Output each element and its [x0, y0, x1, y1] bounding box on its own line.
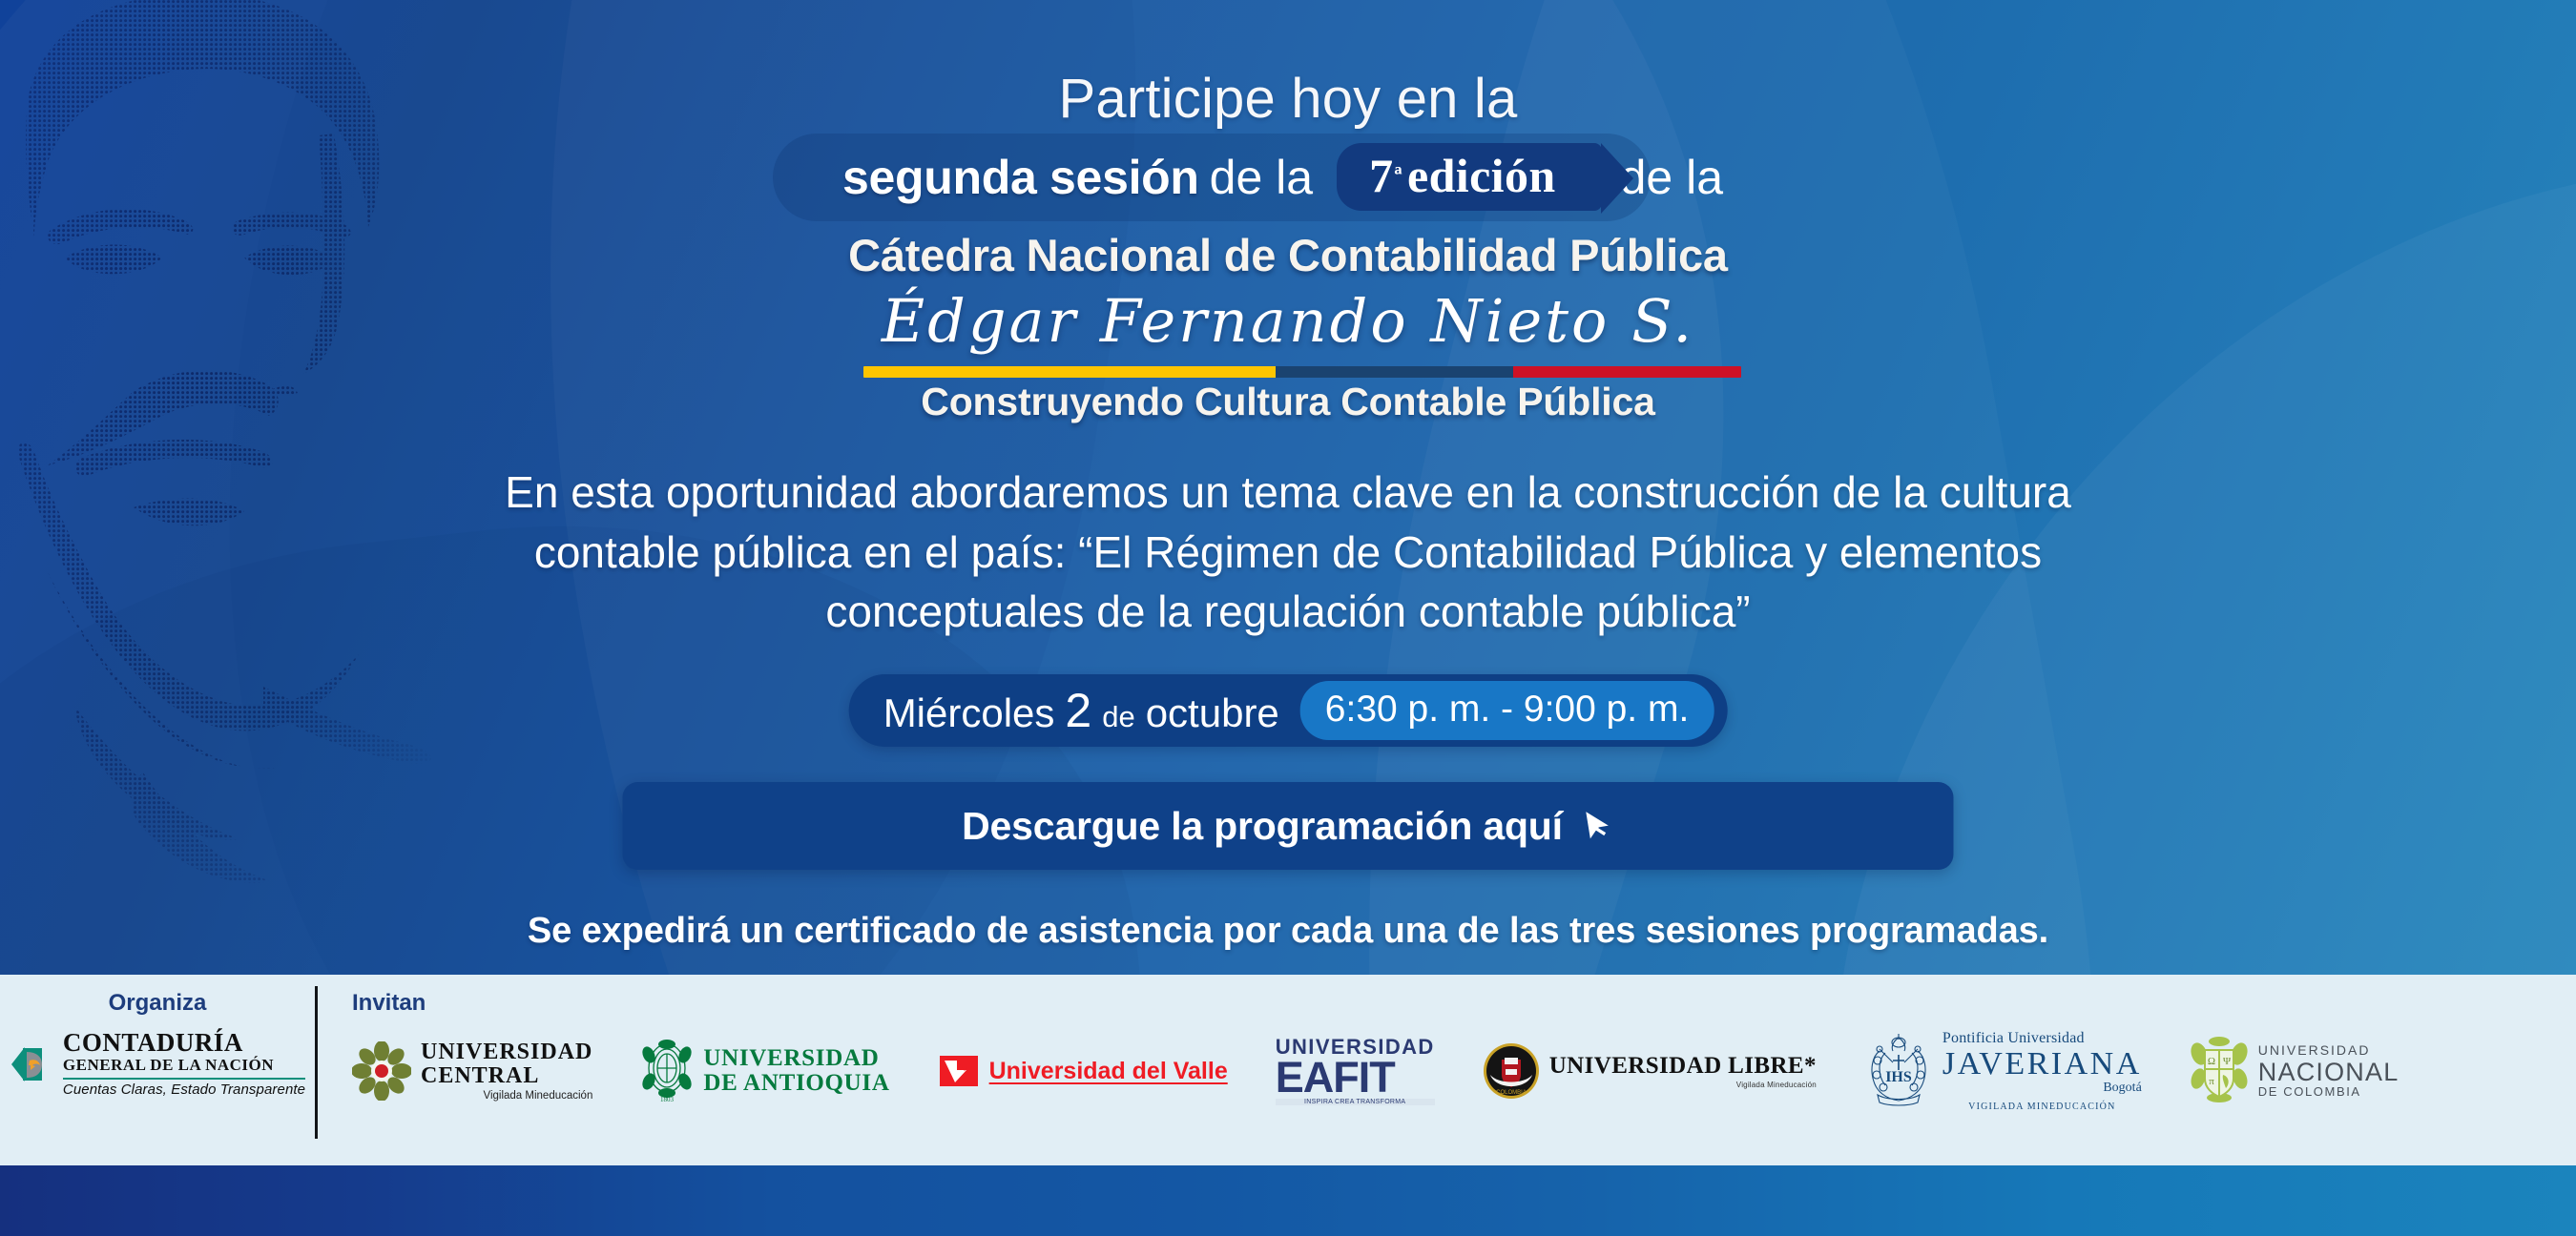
antioquia-year: 1803: [660, 1096, 675, 1102]
jv-note: VIGILADA MINEDUCACIÓN: [1942, 1102, 2142, 1112]
uc-line1: UNIVERSIDAD: [421, 1040, 592, 1063]
logo-contaduria-general[interactable]: CONTADURÍA GENERAL DE LA NACIÓN Cuentas …: [0, 1030, 315, 1098]
hero-background: Participe hoy en la segunda sesión de la…: [0, 0, 2576, 975]
page-title: Cátedra Nacional de Contabilidad Pública: [0, 229, 2576, 281]
flag-blue-segment: [1276, 366, 1512, 378]
poster-root: Participe hoy en la segunda sesión de la…: [0, 0, 2576, 1236]
unal-crest-icon: Ω Ψ π: [2190, 1037, 2249, 1105]
universidad-central-flower-icon: [352, 1041, 411, 1101]
logo-pontificia-universidad-javeriana[interactable]: IHS Pontificia Universidad JAVERIANA Bog…: [1864, 1030, 2142, 1112]
logo-universidad-de-antioquia[interactable]: 1803 UNIVERSIDAD DE ANTIOQUIA: [640, 1040, 889, 1102]
contaduria-name-line2: GENERAL DE LA NACIÓN: [63, 1056, 305, 1075]
jv-line1: Pontificia Universidad: [1942, 1030, 2142, 1047]
invited-logos-row: UNIVERSIDAD CENTRAL Vigilada Mineducació…: [344, 1030, 2576, 1112]
session-bold-text: segunda sesión: [842, 154, 1199, 201]
edition-badge: 7ªedición: [1337, 143, 1602, 211]
date-time-pill: Miércoles 2 de octubre 6:30 p. m. - 9:00…: [849, 674, 1728, 747]
time-range-badge: 6:30 p. m. - 9:00 p. m.: [1300, 681, 1714, 740]
logo-universidad-nacional-de-colombia[interactable]: Ω Ψ π UNIVERSIDAD NACIONAL DE COLOMBIA: [2190, 1037, 2399, 1105]
uv-line1: Universidad del Valle: [989, 1058, 1228, 1085]
edition-number: 7: [1369, 152, 1393, 199]
organiza-label: Organiza: [0, 990, 315, 1017]
un-line1: UNIVERSIDAD: [2258, 1043, 2399, 1058]
colombia-flag-rule: [863, 366, 1741, 378]
logo-universidad-central[interactable]: UNIVERSIDAD CENTRAL Vigilada Mineducació…: [352, 1040, 592, 1102]
subtitle: Construyendo Cultura Contable Pública: [0, 380, 2576, 424]
download-button-label: Descargue la programación aquí: [962, 804, 1563, 849]
ua-line2: DE ANTIOQUIA: [703, 1071, 889, 1096]
description-paragraph: En esta oportunidad abordaremos un tema …: [448, 463, 2128, 642]
footer: Organiza CONTADURÍA GENERAL DE LA NACIÓN…: [0, 975, 2576, 1165]
date-de: de: [1102, 700, 1134, 734]
logo-universidad-del-valle[interactable]: Universidad del Valle: [938, 1050, 1228, 1092]
svg-text:π: π: [2209, 1076, 2214, 1087]
bottom-gradient-strip: [0, 1165, 2576, 1236]
contaduria-emblem-icon: [10, 1041, 53, 1087]
date-weekday: Miércoles: [883, 690, 1055, 736]
signature-name: Édgar Fernando Nieto S.: [0, 286, 2576, 356]
cursor-arrow-icon: [1582, 807, 1614, 845]
svg-text:Ω: Ω: [2208, 1056, 2215, 1067]
logo-universidad-libre[interactable]: COLOMBIA UNIVERSIDAD LIBRE* Vigilada Min…: [1483, 1042, 1817, 1100]
ul-line1: UNIVERSIDAD LIBRE*: [1549, 1054, 1817, 1078]
invitan-label: Invitan: [344, 990, 2576, 1017]
download-schedule-button[interactable]: Descargue la programación aquí: [623, 782, 1954, 870]
flag-red-segment: [1513, 366, 1741, 378]
ua-line1: UNIVERSIDAD: [703, 1046, 889, 1071]
footer-invitan-section: Invitan: [318, 975, 2576, 1112]
javeriana-ihs-emblem-icon: IHS: [1864, 1032, 1933, 1110]
un-line3: DE COLOMBIA: [2258, 1085, 2399, 1099]
uc-note: Vigilada Mineducación: [421, 1090, 592, 1102]
contaduria-rule: [63, 1078, 305, 1080]
intro-line: Participe hoy en la: [0, 67, 2576, 131]
jv-city: Bogotá: [1942, 1081, 2142, 1096]
hero-content: Participe hoy en la segunda sesión de la…: [0, 0, 2576, 975]
date-month: octubre: [1146, 690, 1279, 736]
session-connector-2: de la: [1620, 154, 1723, 201]
logo-universidad-eafit[interactable]: UNIVERSIDAD EAFIT INSPIRA CREA TRANSFORM…: [1276, 1037, 1435, 1105]
footer-organiza-section: Organiza CONTADURÍA GENERAL DE LA NACIÓN…: [0, 975, 315, 1098]
uc-line2: CENTRAL: [421, 1064, 592, 1087]
javeriana-ihs-text: IHS: [1885, 1069, 1912, 1085]
antioquia-seal-icon: 1803: [640, 1040, 694, 1102]
ul-note: Vigilada Mineducación: [1549, 1081, 1817, 1089]
date-text: Miércoles 2 de octubre: [883, 683, 1279, 738]
contaduria-name-line1: CONTADURÍA: [63, 1030, 305, 1056]
svg-text:COLOMBIA: COLOMBIA: [1496, 1090, 1527, 1096]
session-connector-1: de la: [1210, 154, 1313, 201]
svg-text:Ψ: Ψ: [2223, 1056, 2232, 1067]
date-day-number: 2: [1065, 683, 1091, 738]
certificate-note: Se expedirá un certificado de asistencia…: [0, 911, 2576, 952]
contaduria-tagline: Cuentas Claras, Estado Transparente: [63, 1081, 305, 1098]
univalle-mark-icon: [938, 1050, 980, 1092]
edition-word: edición: [1407, 152, 1556, 199]
universidad-libre-crest-icon: COLOMBIA: [1483, 1042, 1540, 1100]
session-line: segunda sesión de la 7ªedición de la: [0, 143, 2576, 211]
un-line2: NACIONAL: [2258, 1059, 2399, 1085]
jv-line2: JAVERIANA: [1942, 1047, 2142, 1081]
eafit-line2: EAFIT: [1276, 1058, 1435, 1097]
flag-yellow-segment: [863, 366, 1276, 378]
